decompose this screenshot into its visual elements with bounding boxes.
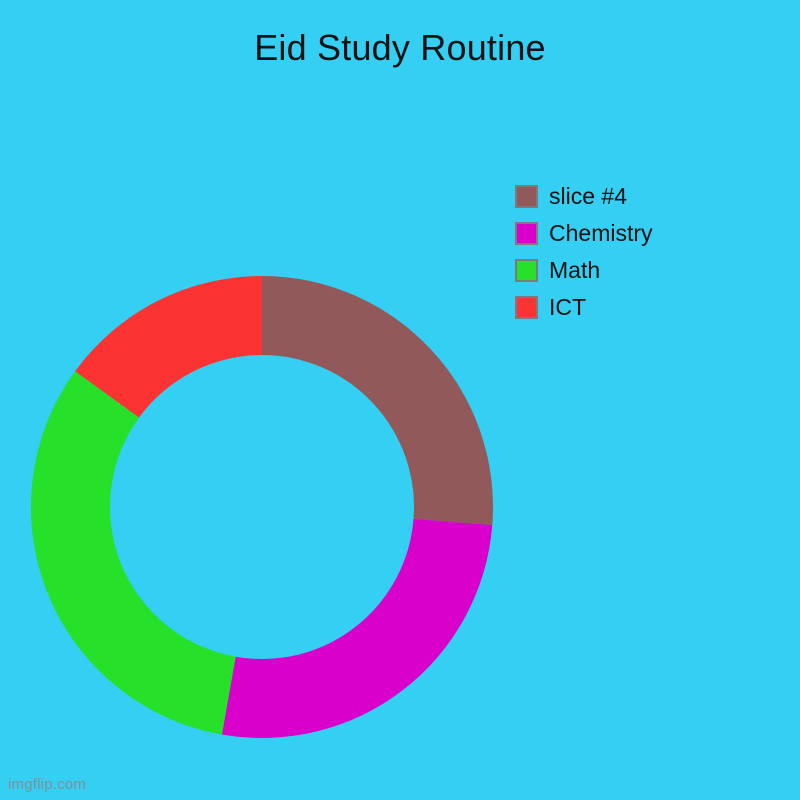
donut-chart bbox=[31, 276, 493, 738]
legend-item[interactable]: slice #4 bbox=[515, 178, 765, 215]
donut-slice[interactable] bbox=[222, 519, 492, 738]
legend-item-label: Math bbox=[549, 259, 600, 282]
page-title: Eid Study Routine bbox=[0, 26, 800, 70]
legend-item-label: Chemistry bbox=[549, 222, 653, 245]
legend-item[interactable]: ICT bbox=[515, 289, 765, 326]
donut-slice[interactable] bbox=[262, 276, 493, 525]
legend-item-label: slice #4 bbox=[549, 185, 627, 208]
legend-item[interactable]: Math bbox=[515, 252, 765, 289]
legend-color-swatch bbox=[515, 296, 538, 319]
imgflip-watermark: imgflip.com bbox=[8, 776, 86, 793]
legend-color-swatch bbox=[515, 222, 538, 245]
donut-slice-group bbox=[31, 276, 493, 738]
donut-slice[interactable] bbox=[31, 371, 236, 734]
chart-legend: slice #4ChemistryMathICT bbox=[515, 178, 765, 326]
legend-item-label: ICT bbox=[549, 296, 586, 319]
legend-color-swatch bbox=[515, 259, 538, 282]
legend-color-swatch bbox=[515, 185, 538, 208]
chart-canvas: Eid Study Routine slice #4ChemistryMathI… bbox=[0, 0, 800, 800]
donut-chart-svg bbox=[31, 276, 493, 738]
legend-item[interactable]: Chemistry bbox=[515, 215, 765, 252]
